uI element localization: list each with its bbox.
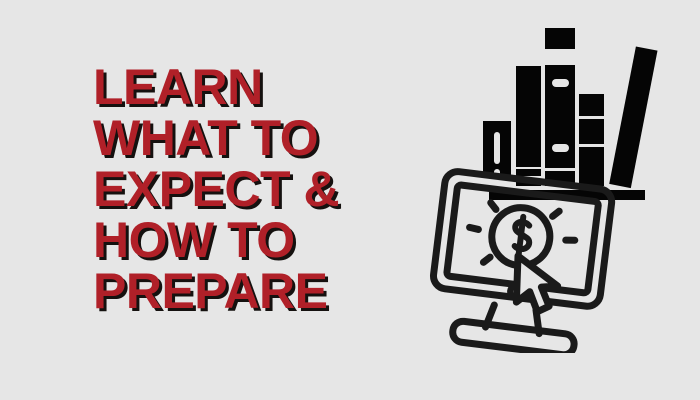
book-2 (516, 66, 541, 167)
bookshelf-icon (483, 28, 653, 176)
poster-canvas: LEARN WHAT TO EXPECT & HOW TO PREPARE (0, 0, 700, 400)
headline-line-4: HOW TO (93, 215, 393, 266)
book-1-stripe (494, 132, 500, 164)
headline-line-1: LEARN (93, 62, 393, 113)
book-5-label-top (552, 79, 569, 87)
book-5-label-bottom (552, 144, 569, 152)
headline-line-3: EXPECT & (93, 164, 393, 215)
page-title: LEARN WHAT TO EXPECT & HOW TO PREPARE (93, 62, 393, 317)
book-8 (579, 94, 604, 116)
book-6 (545, 28, 575, 49)
headline-line-5: PREPARE (93, 266, 393, 317)
book-9 (579, 119, 604, 144)
monitor-base (452, 320, 576, 353)
computer-monitor-icon (422, 168, 622, 353)
book-leaning (609, 46, 657, 188)
headline-line-2: WHAT TO (93, 113, 393, 164)
